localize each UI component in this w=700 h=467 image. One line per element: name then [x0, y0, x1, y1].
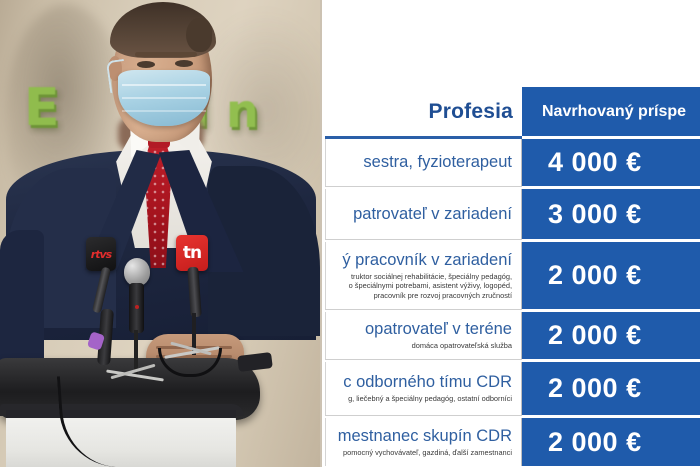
amount-value: 2 000 €: [548, 260, 642, 291]
mic-head-icon: [124, 258, 150, 286]
cell-profession: c odborného tímu CDR g, liečebný a špeci…: [325, 362, 522, 415]
profession-label: sestra, fyzioterapeut: [330, 153, 512, 172]
mic-indicator-dot: [135, 305, 139, 309]
hair: [110, 2, 216, 58]
amount-value: 2 000 €: [548, 320, 642, 351]
profession-detail-line: pomocný vychovávateľ, gazdiná, ďalší zam…: [330, 448, 512, 458]
header-cell-amount: Navrhovaný príspe: [522, 87, 700, 136]
rtvs-logo-icon: rtvs: [91, 248, 111, 261]
cell-profession: opatrovateľ v teréne domáca opatrovateľs…: [325, 312, 522, 359]
eye-left: [137, 61, 155, 68]
cell-amount: 2 000 €: [522, 362, 700, 415]
tn-logo-icon: tn: [183, 243, 201, 263]
tn-mic-flag-box: tn: [176, 235, 208, 271]
cell-profession: mestnanec skupín CDR pomocný vychovávate…: [325, 418, 522, 466]
table-row: c odborného tímu CDR g, liečebný a špeci…: [325, 362, 700, 415]
profession-label: ý pracovník v zariadení: [330, 251, 512, 270]
profession-detail-line: pracovník pre rozvoj pracovných zručnost…: [330, 291, 512, 301]
allowance-table-panel: Profesia Navrhovaný príspe sestra, fyzio…: [320, 0, 700, 467]
cell-profession: sestra, fyzioterapeut: [325, 139, 522, 186]
table-row: ý pracovník v zariadení truktor sociálne…: [325, 242, 700, 309]
profession-label: opatrovateľ v teréne: [330, 320, 512, 339]
amount-value: 3 000 €: [548, 199, 642, 230]
press-conference-photo: t E n i n: [0, 0, 320, 467]
cell-profession: patrovateľ v zariadení: [325, 189, 522, 239]
profession-label: mestnanec skupín CDR: [330, 427, 512, 446]
profession-detail-line: domáca opatrovateľská služba: [330, 341, 512, 351]
profession-detail-line: o špeciálnymi potrebami, asistent výživy…: [330, 281, 512, 291]
eyebrows: [135, 52, 197, 57]
profession-detail-line: truktor sociálnej rehabilitácie, špeciál…: [330, 272, 512, 282]
header-label-amount: Navrhovaný príspe: [542, 103, 686, 121]
table-row: mestnanec skupín CDR pomocný vychovávate…: [325, 418, 700, 466]
table-header-row: Profesia Navrhovaný príspe: [325, 87, 700, 136]
rtvs-mic-flag-box: rtvs: [86, 237, 116, 271]
amount-value: 2 000 €: [548, 373, 642, 404]
profession-label: patrovateľ v zariadení: [330, 205, 512, 224]
cell-amount: 4 000 €: [522, 139, 700, 186]
cell-amount: 2 000 €: [522, 242, 700, 309]
amount-value: 4 000 €: [548, 147, 642, 178]
profession-label: c odborného tímu CDR: [330, 373, 512, 392]
table-row: patrovateľ v zariadení 3 000 €: [325, 189, 700, 239]
header-label-profession: Profesia: [329, 100, 513, 124]
table-row: sestra, fyzioterapeut 4 000 €: [325, 139, 700, 186]
profession-detail-line: g, liečebný a špeciálny pedagóg, ostatní…: [330, 394, 512, 404]
cell-profession: ý pracovník v zariadení truktor sociálne…: [325, 242, 522, 309]
header-cell-profession: Profesia: [325, 87, 522, 136]
cell-amount: 3 000 €: [522, 189, 700, 239]
allowance-table: Profesia Navrhovaný príspe sestra, fyzio…: [325, 87, 700, 466]
panel-divider: [320, 0, 322, 467]
cell-amount: 2 000 €: [522, 312, 700, 359]
eye-right: [175, 60, 193, 67]
table-row: opatrovateľ v teréne domáca opatrovateľs…: [325, 312, 700, 359]
cell-amount: 2 000 €: [522, 418, 700, 466]
amount-value: 2 000 €: [548, 427, 642, 458]
arm-left: [0, 230, 44, 370]
screenshot-root: t E n i n: [0, 0, 700, 467]
